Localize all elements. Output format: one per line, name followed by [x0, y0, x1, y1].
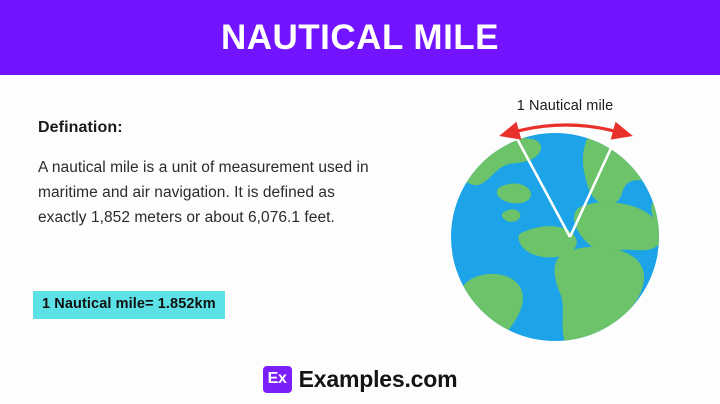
definition-body-text: A nautical mile is a unit of measurement… — [38, 155, 378, 230]
brand-footer: Ex Examples.com — [0, 360, 720, 398]
formula-section: 1 Nautical mile= 1.852km — [33, 291, 225, 319]
page-title: NAUTICAL MILE — [221, 20, 499, 55]
definition-section: Defination: A nautical mile is a unit of… — [38, 118, 378, 231]
poster-canvas: NAUTICAL MILE Defination: A nautical mil… — [0, 0, 720, 404]
examples-logo-badge: Ex — [263, 366, 292, 393]
globe-graphic — [440, 95, 690, 350]
definition-heading: Defination: — [38, 118, 378, 137]
examples-logo-text: Examples.com — [299, 368, 458, 391]
nautical-mile-arc-arrow — [514, 125, 618, 132]
formula-highlight: 1 Nautical mile= 1.852km — [33, 291, 225, 319]
header-band: NAUTICAL MILE — [0, 0, 720, 75]
globe-illustration: 1 Nautical mile — [440, 95, 690, 350]
